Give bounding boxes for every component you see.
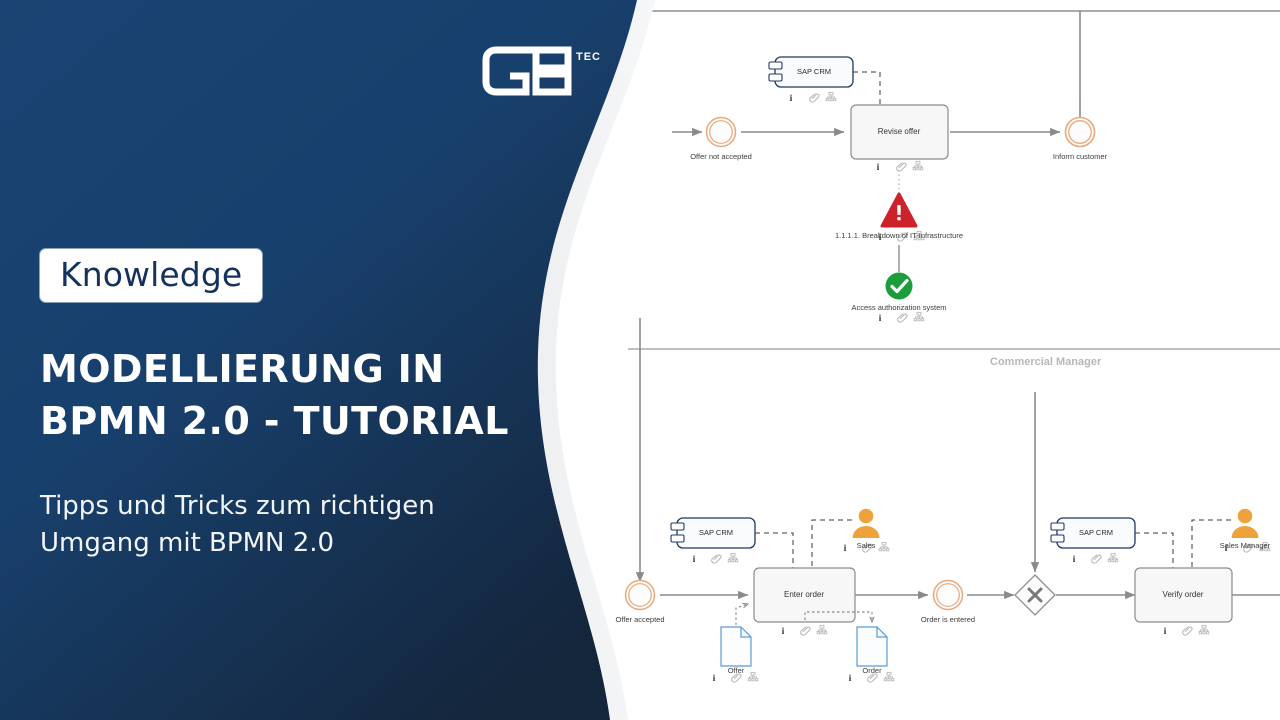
page-title: MODELLIERUNG IN BPMN 2.0 - TUTORIAL xyxy=(40,343,560,448)
offer-association xyxy=(736,604,748,625)
label-risk-breakdown: 1.1.1.1. Breakdown of IT-Infrastructure xyxy=(835,231,963,240)
knowledge-badge[interactable]: Knowledge xyxy=(40,249,262,302)
label-role-sales-manager: Sales Manager xyxy=(1220,541,1270,550)
svg-text:i: i xyxy=(844,543,847,553)
label-inform-customer: Inform customer xyxy=(1053,152,1107,161)
bottom-left-system-association xyxy=(755,533,793,568)
label-revise-offer: Revise offer xyxy=(878,127,921,136)
svg-text:i: i xyxy=(782,626,785,636)
page-subtitle-line1: Tipps und Tricks zum richtigen xyxy=(40,491,435,521)
lane-label-commercial-manager: Commercial Manager xyxy=(990,356,1102,368)
page-subtitle: Tipps und Tricks zum richtigen Umgang mi… xyxy=(40,488,540,562)
bottom-right-system-association xyxy=(1135,533,1173,568)
label-doc-offer: Offer xyxy=(728,666,745,675)
page-title-line2: BPMN 2.0 - TUTORIAL xyxy=(40,395,560,447)
risk-warning-icon[interactable] xyxy=(882,194,916,226)
label-enter-order: Enter order xyxy=(784,590,824,599)
pool-frame xyxy=(628,11,1280,349)
page-subtitle-line2: Umgang mit BPMN 2.0 xyxy=(40,525,540,562)
exclusive-gateway[interactable] xyxy=(1015,575,1055,615)
control-check-icon[interactable] xyxy=(886,273,913,300)
label-control-access-authorization: Access authorization system xyxy=(851,303,946,312)
label-verify-order: Verify order xyxy=(1163,590,1204,599)
top-start-event[interactable] xyxy=(707,118,736,147)
bottom-role-sales-manager[interactable] xyxy=(1232,509,1259,538)
top-system-association xyxy=(853,72,880,105)
svg-text:i: i xyxy=(1073,554,1076,564)
slide-canvas: Commercial Manager xyxy=(0,0,1280,720)
label-bottom-right-sap-crm: SAP CRM xyxy=(1079,528,1113,537)
svg-text:i: i xyxy=(713,673,716,683)
page-title-line1: MODELLIERUNG IN xyxy=(40,347,444,391)
bottom-intermediate-event-order-is-entered[interactable] xyxy=(934,581,963,610)
svg-text:i: i xyxy=(879,313,882,323)
panel-content: Knowledge MODELLIERUNG IN BPMN 2.0 - TUT… xyxy=(0,0,560,720)
logo-superscript: TEC xyxy=(576,51,601,63)
svg-text:i: i xyxy=(877,162,880,172)
data-object-order[interactable] xyxy=(857,627,887,666)
svg-text:i: i xyxy=(849,673,852,683)
label-doc-order: Order xyxy=(862,666,881,675)
label-bottom-left-sap-crm: SAP CRM xyxy=(699,528,733,537)
label-order-is-entered: Order is entered xyxy=(921,615,975,624)
label-role-sales: Sales xyxy=(857,541,876,550)
bottom-role-sales[interactable] xyxy=(853,509,880,538)
svg-text:i: i xyxy=(1164,626,1167,636)
svg-text:i: i xyxy=(790,93,793,103)
label-top-sap-crm: SAP CRM xyxy=(797,67,831,76)
top-end-event-inform-customer[interactable] xyxy=(1066,118,1095,147)
data-object-offer[interactable] xyxy=(721,627,751,666)
